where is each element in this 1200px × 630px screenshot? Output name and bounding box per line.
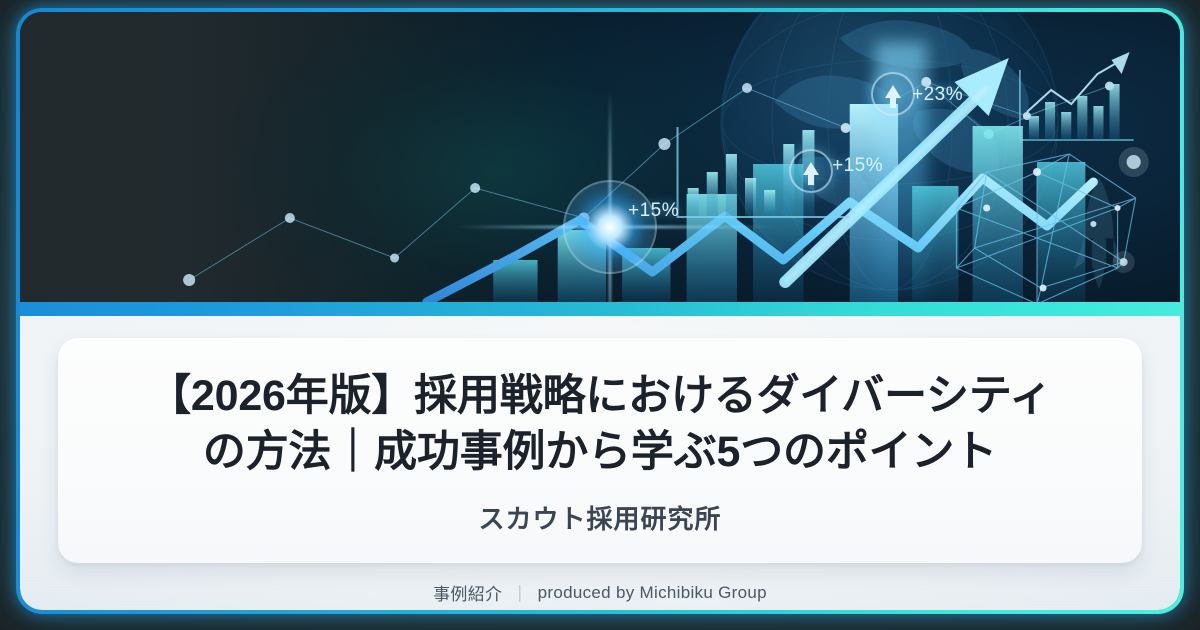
site-name: スカウト採用研究所 bbox=[478, 499, 721, 536]
title-card: 【2026年版】採用戦略におけるダイバーシティ の方法｜成功事例から学ぶ5つのポ… bbox=[58, 338, 1142, 563]
footer-separator: ｜ bbox=[511, 580, 528, 605]
frame-inner: +15% +15% +23% 【2026年版】採用戦略におけるダイバーシティ の… bbox=[20, 12, 1180, 610]
footer-credit: 事例紹介 ｜ produced by Michibiku Group bbox=[433, 580, 767, 605]
page-title-line-2: の方法｜成功事例から学ぶ5つのポイント bbox=[148, 425, 1052, 481]
footer-category: 事例紹介 bbox=[433, 580, 502, 605]
footer-produced-by: produced by Michibiku Group bbox=[538, 583, 767, 603]
metric-label-top: +23% bbox=[912, 84, 963, 106]
metric-label-left: +15% bbox=[628, 200, 679, 222]
og-image-canvas: +15% +15% +23% 【2026年版】採用戦略におけるダイバーシティ の… bbox=[0, 0, 1200, 630]
glow-frame: +15% +15% +23% 【2026年版】採用戦略におけるダイバーシティ の… bbox=[16, 8, 1184, 614]
content-panel: 【2026年版】採用戦略におけるダイバーシティ の方法｜成功事例から学ぶ5つのポ… bbox=[20, 316, 1180, 610]
mini-line-chart-icon bbox=[1020, 52, 1134, 140]
section-divider bbox=[20, 302, 1180, 316]
page-title: 【2026年版】採用戦略におけるダイバーシティ の方法｜成功事例から学ぶ5つのポ… bbox=[148, 369, 1052, 481]
up-arrow-badge-icon bbox=[789, 149, 833, 193]
growth-chart-graphic bbox=[20, 12, 1180, 302]
rocket-icon bbox=[1072, 174, 1126, 294]
hero-artwork: +15% +15% +23% bbox=[20, 12, 1180, 302]
metric-label-mid: +15% bbox=[832, 155, 883, 177]
up-arrow-badge-icon bbox=[871, 72, 915, 116]
page-title-line-1: 【2026年版】採用戦略におけるダイバーシティ bbox=[148, 369, 1052, 425]
